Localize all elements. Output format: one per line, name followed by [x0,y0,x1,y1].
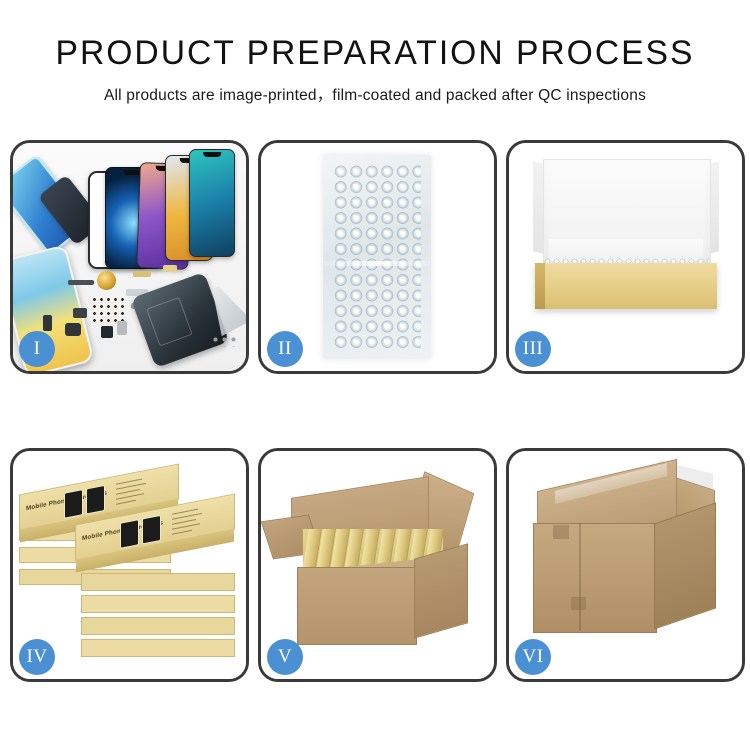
carton-tab [553,525,569,539]
product-photo-icon [86,485,105,515]
step-badge-3: III [515,331,551,367]
carton-front-face [297,567,417,645]
step-badge-1: I [19,331,55,367]
step-panel-1: I [10,140,249,374]
carton-front-face [533,523,657,633]
carton-seam [579,523,581,631]
step-badge-5: V [267,639,303,675]
bubbles-pattern-icon [333,165,421,349]
screw-tray-icon [91,296,125,324]
step-panel-5: V [258,448,497,682]
step-panel-3: III [506,140,745,374]
carton-tab [571,597,586,610]
speaker-coil-icon [97,271,116,290]
small-part-icon [43,315,52,331]
phone-display-teal-icon [189,149,235,257]
product-photo-icon [64,489,83,519]
step-panel-6: VI [506,448,745,682]
wrap-seam [323,261,431,266]
product-photo-icon [142,515,161,545]
small-part-icon [73,308,87,318]
header: PRODUCT PREPARATION PROCESS All products… [0,0,750,105]
step-panel-4: Mobile Phone Spare Parts [10,448,249,682]
product-photo-icon [120,519,139,549]
stacked-box-edge [81,639,235,657]
step-badge-4: IV [19,639,55,675]
phone-chassis-icon [131,272,230,368]
steps-grid: I II III [10,140,740,688]
small-part-icon [101,326,113,338]
carton-side-face [654,502,716,629]
step-panel-2: II [258,140,497,374]
stacked-box-edge [81,573,235,591]
box-stack: Mobile Phone Spare Parts [19,473,237,659]
stacked-box-edge [81,595,235,613]
step-badge-6: VI [515,639,551,675]
flex-cable-icon [133,271,151,277]
notch-icon [203,152,221,157]
spec-line [172,530,192,535]
page-title: PRODUCT PREPARATION PROCESS [4,0,747,72]
step-badge-2: II [267,331,303,367]
page-subtitle: All products are image-printed，film-coat… [0,72,750,105]
small-part-icon [117,321,127,335]
kraft-box-base [535,263,717,309]
kraft-box-lip [535,263,545,309]
carton-side-face [414,543,468,638]
small-part-icon [163,265,177,272]
flex-cable-icon [68,280,94,285]
spec-line [116,500,136,505]
small-part-icon [65,323,81,336]
product-preparation-infographic: PRODUCT PREPARATION PROCESS All products… [0,0,750,750]
stacked-box-edge [81,617,235,635]
screws-icon [211,335,237,347]
bubble-wrap-sleeve [323,155,431,359]
